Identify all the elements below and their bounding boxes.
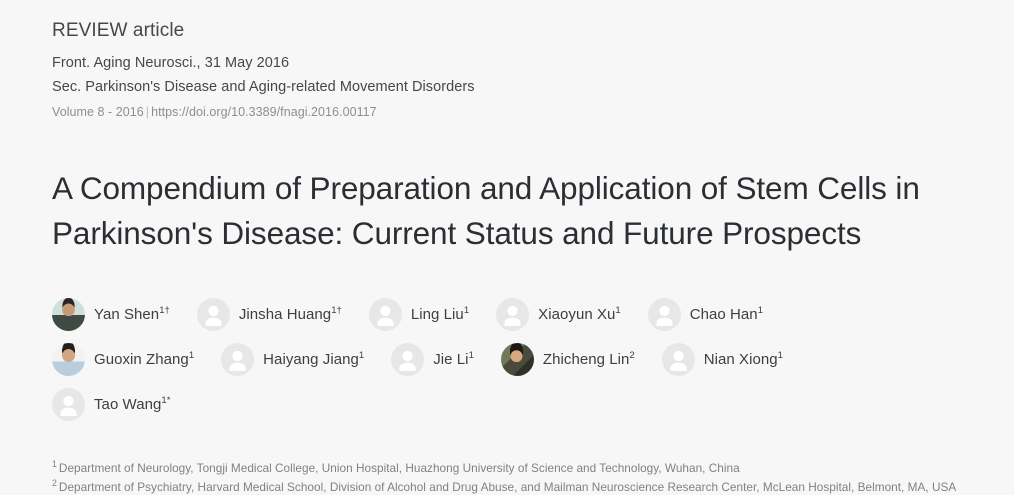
author-name: Guoxin Zhang1: [94, 351, 194, 368]
author-item[interactable]: Xiaoyun Xu1: [496, 298, 621, 331]
author-affiliation-marker: 1*: [161, 395, 170, 406]
author-item[interactable]: Nian Xiong1: [662, 343, 783, 376]
author-list: Yan Shen1†Jinsha Huang1†Ling Liu1Xiaoyun…: [52, 256, 952, 433]
author-name: Jie Li1: [433, 351, 474, 368]
author-affiliation-marker: 2: [629, 350, 634, 361]
author-item[interactable]: Guoxin Zhang1: [52, 343, 194, 376]
affiliation-item: 1Department of Neurology, Tongji Medical…: [52, 460, 962, 476]
author-name: Nian Xiong1: [704, 351, 783, 368]
author-item[interactable]: Ling Liu1: [369, 298, 469, 331]
author-name: Zhicheng Lin2: [543, 351, 635, 368]
journal-section-line: Sec. Parkinson's Disease and Aging-relat…: [52, 76, 962, 98]
volume-label: Volume 8 - 2016: [52, 105, 144, 119]
affiliation-marker: 1: [52, 459, 59, 469]
author-name: Xiaoyun Xu1: [538, 306, 621, 323]
author-item[interactable]: Zhicheng Lin2: [501, 343, 635, 376]
article-type-label: REVIEW article: [52, 0, 962, 43]
author-affiliation-marker: 1: [758, 305, 763, 316]
author-photo: [52, 343, 85, 376]
person-icon: [52, 388, 85, 421]
author-photo: [501, 343, 534, 376]
author-item[interactable]: Jinsha Huang1†: [197, 298, 342, 331]
author-affiliation-marker: 1: [615, 305, 620, 316]
author-name: Yan Shen1†: [94, 306, 170, 323]
person-icon: [496, 298, 529, 331]
journal-citation-line: Front. Aging Neurosci., 31 May 2016: [52, 52, 962, 74]
author-item[interactable]: Jie Li1: [391, 343, 474, 376]
author-name: Chao Han1: [690, 306, 763, 323]
author-affiliation-marker: 1: [469, 350, 474, 361]
page-title: A Compendium of Preparation and Applicat…: [52, 122, 962, 256]
affiliation-item: 2Department of Psychiatry, Harvard Medic…: [52, 479, 962, 495]
affiliation-text: Department of Psychiatry, Harvard Medica…: [59, 480, 956, 494]
author-name: Tao Wang1*: [94, 396, 170, 413]
article-header-page: REVIEW article Front. Aging Neurosci., 3…: [0, 0, 1014, 486]
author-affiliation-marker: 1: [778, 350, 783, 361]
person-icon: [662, 343, 695, 376]
author-affiliation-marker: 1†: [331, 305, 342, 316]
author-name: Ling Liu1: [411, 306, 469, 323]
meta-separator: |: [144, 105, 151, 119]
volume-doi-line: Volume 8 - 2016|https://doi.org/10.3389/…: [52, 103, 962, 122]
person-icon: [221, 343, 254, 376]
affiliation-text: Department of Neurology, Tongji Medical …: [59, 461, 740, 475]
doi-link[interactable]: https://doi.org/10.3389/fnagi.2016.00117: [151, 105, 377, 119]
author-affiliation-marker: 1†: [159, 305, 170, 316]
author-name: Jinsha Huang1†: [239, 306, 342, 323]
author-item[interactable]: Haiyang Jiang1: [221, 343, 364, 376]
person-icon: [648, 298, 681, 331]
author-affiliation-marker: 1: [464, 305, 469, 316]
person-icon: [369, 298, 402, 331]
author-item[interactable]: Tao Wang1*: [52, 388, 170, 421]
author-item[interactable]: Chao Han1: [648, 298, 763, 331]
person-icon: [197, 298, 230, 331]
affiliation-marker: 2: [52, 478, 59, 488]
author-photo: [52, 298, 85, 331]
person-icon: [391, 343, 424, 376]
author-affiliation-marker: 1: [359, 350, 364, 361]
author-affiliation-marker: 1: [189, 350, 194, 361]
author-item[interactable]: Yan Shen1†: [52, 298, 170, 331]
author-name: Haiyang Jiang1: [263, 351, 364, 368]
